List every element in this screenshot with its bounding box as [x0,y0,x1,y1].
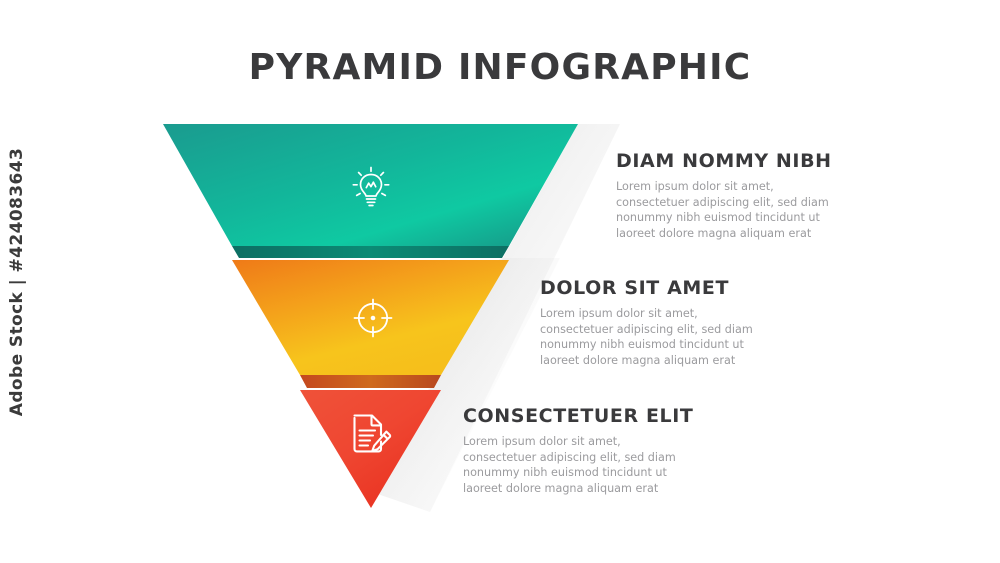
infographic-canvas: Adobe Stock | #424083643 PYRAMID INFOGRA… [0,0,1000,563]
pyramid-level-2-band [300,375,441,388]
level-1-title: DIAM NOMMY NIBH [616,150,832,172]
level-2-description: Lorem ipsum dolor sit amet, consectetuer… [540,306,755,368]
level-1-text-block: DIAM NOMMY NIBH Lorem ipsum dolor sit am… [616,150,832,241]
level-1-description: Lorem ipsum dolor sit amet, consectetuer… [616,179,831,241]
pyramid-level-1-band [232,246,509,258]
level-3-description: Lorem ipsum dolor sit amet, consectetuer… [463,434,678,496]
document-edit-icon [348,411,394,457]
lightbulb-icon [350,165,392,213]
level-3-text-block: CONSECTETUER ELIT Lorem ipsum dolor sit … [463,405,693,496]
crosshair-target-icon [351,296,395,340]
level-2-text-block: DOLOR SIT AMET Lorem ipsum dolor sit ame… [540,277,755,368]
level-3-title: CONSECTETUER ELIT [463,405,693,427]
level-2-title: DOLOR SIT AMET [540,277,755,299]
